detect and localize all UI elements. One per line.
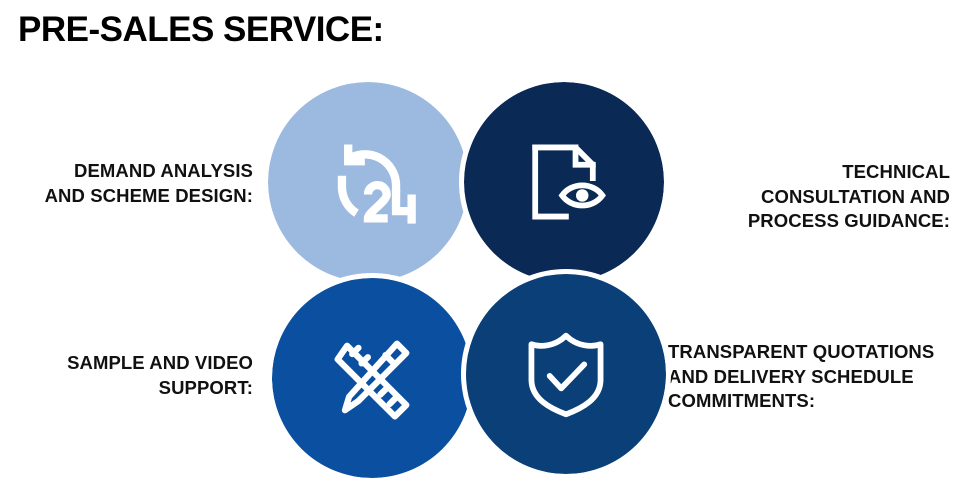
circle-cluster	[268, 82, 668, 482]
shield-check-icon	[518, 326, 614, 422]
label-demand-analysis: DEMAND ANALYSIS AND SCHEME DESIGN:	[0, 159, 253, 208]
pre-sales-service-diagram: DEMAND ANALYSIS AND SCHEME DESIGN: TECHN…	[0, 0, 960, 498]
circle-transparent-quotations[interactable]	[466, 274, 666, 474]
circle-technical-consultation[interactable]	[464, 82, 664, 282]
circle-sample-video-support[interactable]	[272, 278, 472, 478]
circle-demand-analysis[interactable]	[268, 82, 468, 282]
document-eye-icon	[516, 134, 612, 230]
label-transparent-quotations: TRANSPARENT QUOTATIONS AND DELIVERY SCHE…	[668, 340, 960, 414]
label-sample-video-support: SAMPLE AND VIDEO SUPPORT:	[0, 351, 253, 400]
label-technical-consultation: TECHNICAL CONSULTATION AND PROCESS GUIDA…	[728, 160, 950, 234]
pencil-ruler-icon	[320, 326, 424, 430]
rotate-24-hours-icon	[317, 130, 421, 234]
